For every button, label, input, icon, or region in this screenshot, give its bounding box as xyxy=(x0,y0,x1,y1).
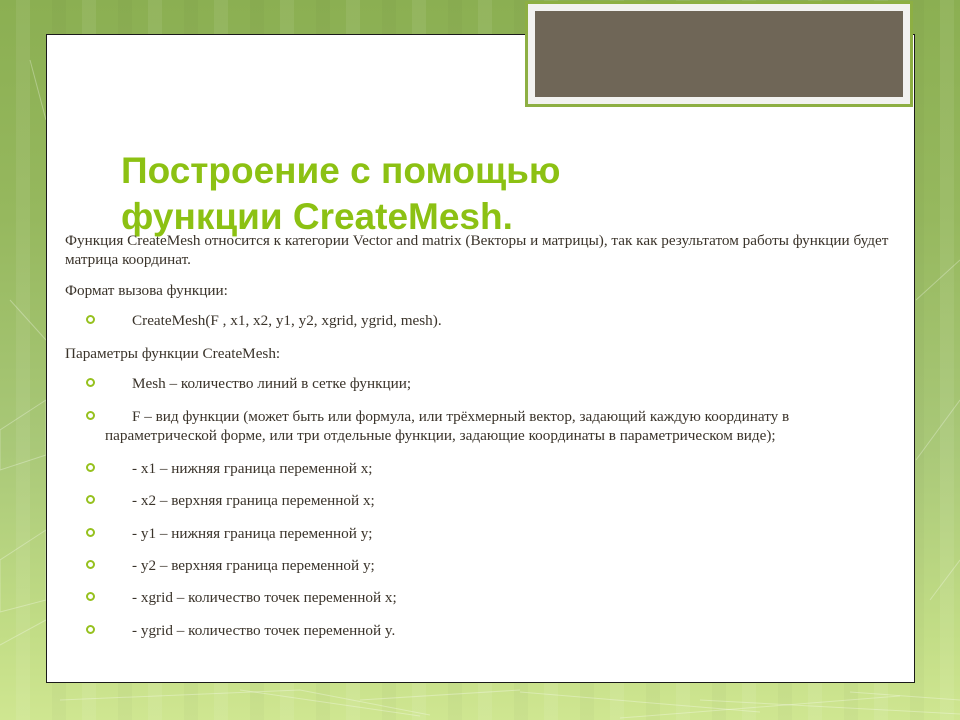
list-item: F – вид функции (может быть или формула,… xyxy=(65,407,900,446)
list-item: - xgrid – количество точек переменной x; xyxy=(65,588,900,607)
list-item-label: CreateMesh(F , x1, x2, y1, y2, xgrid, yg… xyxy=(105,311,900,330)
list-item-label: - y2 – верхняя граница переменной y; xyxy=(105,556,900,575)
list-item-label: - ygrid – количество точек переменной y. xyxy=(105,621,900,640)
list-item-label: - x2 – верхняя граница переменной x; xyxy=(105,491,900,510)
list-item: Mesh – количество линий в сетке функции; xyxy=(65,374,900,393)
bullet-circle-icon xyxy=(86,495,95,504)
body-paragraph-intro: Функция CreateMesh относится к категории… xyxy=(65,231,900,270)
list-item-label: - x1 – нижняя граница переменной x; xyxy=(105,459,900,478)
slide-root: Построение с помощью функции CreateMesh.… xyxy=(0,0,960,720)
list-item: - x2 – верхняя граница переменной x; xyxy=(65,491,900,510)
bullet-circle-icon xyxy=(86,625,95,634)
image-placeholder-fill xyxy=(535,11,903,97)
list-item: - y1 – нижняя граница переменной y; xyxy=(65,524,900,543)
list-item: - y2 – верхняя граница переменной y; xyxy=(65,556,900,575)
bullet-circle-icon xyxy=(86,592,95,601)
list-item-label: - xgrid – количество точек переменной x; xyxy=(105,588,900,607)
list-item: - ygrid – количество точек переменной y. xyxy=(65,621,900,640)
bullet-circle-icon xyxy=(86,560,95,569)
bullet-circle-icon xyxy=(86,411,95,420)
list-item-label: Mesh – количество линий в сетке функции; xyxy=(105,374,900,393)
body-paragraph-call-format: Формат вызова функции: xyxy=(65,281,900,300)
bullet-circle-icon xyxy=(86,463,95,472)
image-placeholder[interactable] xyxy=(525,1,913,107)
list-item: CreateMesh(F , x1, x2, y1, y2, xgrid, yg… xyxy=(65,311,900,330)
list-item-label: F – вид функции (может быть или формула,… xyxy=(105,407,900,446)
list-item-label: - y1 – нижняя граница переменной y; xyxy=(105,524,900,543)
page-title: Построение с помощью функции CreateMesh. xyxy=(121,148,731,241)
bullet-circle-icon xyxy=(86,315,95,324)
body-content: Функция CreateMesh относится к категории… xyxy=(65,231,900,653)
slide-canvas: Построение с помощью функции CreateMesh.… xyxy=(46,34,915,683)
bullet-circle-icon xyxy=(86,378,95,387)
bullet-circle-icon xyxy=(86,528,95,537)
body-paragraph-parameters: Параметры функции CreateMesh: xyxy=(65,344,900,363)
list-item: - x1 – нижняя граница переменной x; xyxy=(65,459,900,478)
